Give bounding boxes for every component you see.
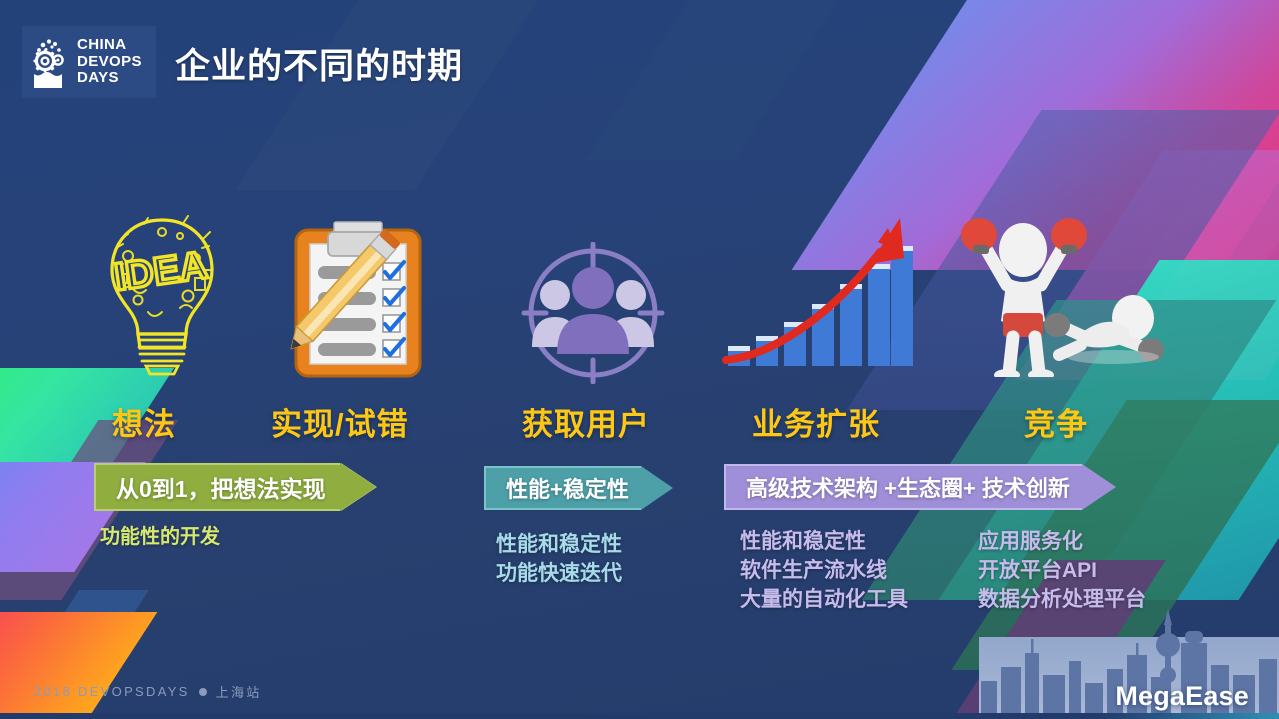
bullet-line: 开放平台API (978, 557, 1146, 586)
china-devopsdays-logo-text: CHINA DEVOPS DAYS (77, 37, 142, 87)
arrow-head-green (340, 463, 376, 511)
growth-bar-chart-arrow-icon (718, 212, 918, 374)
footer-event-note: 2018 DEVOPSDAYS 上海站 (34, 682, 262, 701)
bullet-line: 性能和稳定性 (496, 531, 622, 560)
arrow-banner-teal: 性能+稳定性 (484, 466, 673, 510)
bullet-line: 软件生产流水线 (740, 557, 908, 586)
slide-header: CHINA DEVOPS DAYS 企业的不同的时期 (0, 0, 1279, 118)
bullet-line: 功能性的开发 (100, 524, 220, 552)
bullet-column-competition: 应用服务化 开放平台API 数据分析处理平台 (978, 528, 1146, 615)
logo-line-2: DEVOPS (77, 54, 142, 71)
target-users-icon (512, 242, 674, 384)
footer-separator-dot-icon (199, 688, 207, 696)
arrow-banner-green: 从0到1，把想法实现 (94, 463, 376, 511)
stage-label-acquire-users: 获取用户 (522, 399, 650, 444)
page-title: 企业的不同的时期 (175, 38, 463, 89)
clipboard-checklist-pencil-icon (272, 212, 440, 382)
stage-label-implement: 实现/试错 (271, 399, 409, 444)
megaease-brand: MegaEase (1115, 681, 1249, 712)
arrow-banner-green-label: 从0到1，把想法实现 (116, 470, 326, 504)
arrow-head-teal (641, 466, 673, 510)
bullet-line: 性能和稳定性 (740, 528, 908, 557)
bullet-line: 功能快速迭代 (496, 560, 622, 589)
bg-shape-brown-left (26, 618, 147, 719)
logo-line-3: DAYS (77, 70, 142, 87)
lightbulb-idea-icon: IDEA (92, 208, 232, 378)
arrow-banner-purple: 高级技术架构 +生态圈+ 技术创新 (724, 464, 1116, 510)
boxing-winner-loser-icon (945, 205, 1165, 377)
bg-shape-pink-orange-left (0, 612, 157, 719)
arrow-banner-teal-body: 性能+稳定性 (484, 466, 641, 510)
stage-label-business-expansion: 业务扩张 (752, 399, 880, 444)
china-devopsdays-logo: CHINA DEVOPS DAYS (22, 26, 156, 98)
arrow-banner-green-body: 从0到1，把想法实现 (94, 463, 340, 511)
footer-event-name: 2018 DEVOPSDAYS (34, 684, 190, 699)
bullet-line: 大量的自动化工具 (740, 586, 908, 615)
bullet-column-expansion: 性能和稳定性 软件生产流水线 大量的自动化工具 (740, 528, 908, 615)
stage-label-competition: 竞争 (1024, 399, 1088, 444)
arrow-banner-purple-body: 高级技术架构 +生态圈+ 技术创新 (724, 464, 1082, 510)
slide-canvas: CHINA DEVOPS DAYS 企业的不同的时期 (0, 0, 1279, 719)
bottom-accent-strip (0, 713, 1279, 719)
bg-shape-slate-left (0, 380, 106, 460)
bullet-column-functional: 功能性的开发 (100, 524, 220, 552)
arrow-banner-purple-label: 高级技术架构 +生态圈+ 技术创新 (746, 471, 1070, 503)
logo-line-1: CHINA (77, 37, 142, 54)
stage-label-idea: 想法 (112, 399, 176, 444)
china-devopsdays-gear-logo-icon (30, 34, 70, 90)
bullet-column-performance: 性能和稳定性 功能快速迭代 (496, 531, 622, 589)
bullet-line: 应用服务化 (978, 528, 1146, 557)
arrow-banner-teal-label: 性能+稳定性 (506, 472, 629, 504)
footer-city: 上海站 (216, 682, 262, 701)
arrow-head-purple (1082, 464, 1116, 510)
